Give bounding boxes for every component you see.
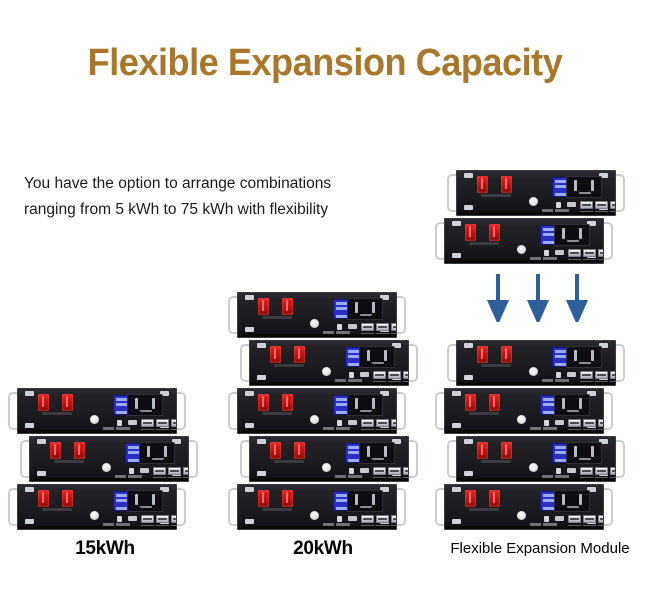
comm-port[interactable] xyxy=(580,201,593,209)
dip-switch[interactable] xyxy=(349,468,354,474)
comm-port[interactable] xyxy=(580,371,593,379)
power-button[interactable] xyxy=(529,197,538,206)
module-chassis xyxy=(444,388,604,434)
port-label xyxy=(580,211,593,213)
power-button[interactable] xyxy=(517,415,526,424)
label-marking xyxy=(555,379,569,382)
mount-ear-top-left xyxy=(464,173,473,178)
communication-port-panel[interactable] xyxy=(347,490,383,512)
comm-port[interactable] xyxy=(153,467,166,475)
power-terminals xyxy=(474,442,520,463)
address-switch[interactable] xyxy=(348,420,357,425)
comm-port[interactable] xyxy=(361,419,374,427)
terminal-cover xyxy=(469,242,499,245)
connector-slot xyxy=(579,398,582,409)
module-chassis xyxy=(17,388,177,434)
terminal-negative[interactable] xyxy=(38,490,49,507)
battery-module[interactable] xyxy=(228,292,406,338)
port-label xyxy=(391,333,397,335)
terminal-negative[interactable] xyxy=(258,394,269,411)
terminal-negative[interactable] xyxy=(477,176,488,193)
comm-port[interactable] xyxy=(595,201,608,209)
comm-port[interactable] xyxy=(361,515,374,523)
battery-module[interactable] xyxy=(447,170,625,216)
module-chassis xyxy=(456,170,616,216)
mount-ear-top-left xyxy=(245,391,254,396)
terminal-cover xyxy=(274,460,304,463)
port-label xyxy=(141,429,154,431)
comm-port[interactable] xyxy=(598,515,604,523)
terminal-cover xyxy=(54,460,84,463)
module-chassis xyxy=(237,388,397,434)
connector-slot xyxy=(574,350,577,361)
address-switch[interactable] xyxy=(567,202,576,207)
communication-port-panel[interactable] xyxy=(139,442,175,464)
terminal-negative[interactable] xyxy=(50,442,61,459)
connector-slot xyxy=(574,180,577,191)
port-label xyxy=(583,429,596,431)
label-marking xyxy=(348,379,362,382)
stack-label-20kwh: 20kWh xyxy=(228,538,418,560)
connector-latch xyxy=(579,362,591,365)
mount-ear-bottom-left xyxy=(464,375,473,380)
label-marking xyxy=(103,427,114,430)
connector-latch xyxy=(152,458,164,461)
terminal-cover xyxy=(469,508,499,511)
mount-ear-bottom-left xyxy=(464,205,473,210)
comm-port[interactable] xyxy=(141,419,154,427)
label-marking xyxy=(335,475,346,478)
comm-port[interactable] xyxy=(610,201,616,209)
port-label xyxy=(361,525,374,527)
connector-slot xyxy=(152,398,155,409)
terminal-negative[interactable] xyxy=(477,442,488,459)
mount-ear-bottom-left xyxy=(25,423,34,428)
comm-port[interactable] xyxy=(168,467,181,475)
comm-port[interactable] xyxy=(171,419,177,427)
communication-port-panel[interactable] xyxy=(127,490,163,512)
comm-port[interactable] xyxy=(598,249,604,257)
comm-port[interactable] xyxy=(156,515,169,523)
power-terminals xyxy=(267,346,313,367)
comm-port[interactable] xyxy=(373,467,386,475)
label-marking xyxy=(555,209,569,212)
stack-label-15kwh: 15kWh xyxy=(10,538,200,560)
mount-ear-bottom-left xyxy=(37,471,46,476)
terminal-positive[interactable] xyxy=(501,442,512,459)
communication-port-panel[interactable] xyxy=(554,224,590,246)
comm-port[interactable] xyxy=(388,371,401,379)
comm-port[interactable] xyxy=(568,419,581,427)
connector-slot xyxy=(135,398,138,409)
address-switch[interactable] xyxy=(128,516,137,521)
terminal-negative[interactable] xyxy=(38,394,49,411)
terminal-positive[interactable] xyxy=(74,442,85,459)
power-terminals xyxy=(255,490,301,511)
port-label xyxy=(610,477,616,479)
address-switch[interactable] xyxy=(360,372,369,377)
connector-latch xyxy=(372,362,384,365)
power-terminals xyxy=(474,346,520,367)
address-switch[interactable] xyxy=(567,468,576,473)
comm-port[interactable] xyxy=(595,371,608,379)
connector-latch xyxy=(372,458,384,461)
terminal-cover xyxy=(262,508,292,511)
module-chassis xyxy=(237,484,397,530)
power-button[interactable] xyxy=(517,511,526,520)
port-label xyxy=(171,429,177,431)
connector-slot xyxy=(591,180,594,191)
connector-slot xyxy=(372,302,375,313)
address-switch[interactable] xyxy=(348,324,357,329)
comm-port[interactable] xyxy=(610,371,616,379)
port-label xyxy=(583,259,596,261)
comm-port[interactable] xyxy=(373,371,386,379)
battery-module[interactable] xyxy=(435,484,613,530)
dip-switch[interactable] xyxy=(129,468,134,474)
label-marking xyxy=(530,523,541,526)
terminal-positive[interactable] xyxy=(489,224,500,241)
terminal-cover xyxy=(481,194,511,197)
module-chassis xyxy=(29,436,189,482)
communication-port-panel[interactable] xyxy=(347,298,383,320)
connector-latch xyxy=(579,458,591,461)
port-label xyxy=(391,429,397,431)
connector-slot xyxy=(384,446,387,457)
battery-module[interactable] xyxy=(8,388,186,434)
terminal-cover xyxy=(42,412,72,415)
mount-ear-top-left xyxy=(464,343,473,348)
mount-ear-bottom-left xyxy=(245,423,254,428)
power-terminals xyxy=(462,394,508,415)
connector-slot xyxy=(372,494,375,505)
connector-slot xyxy=(574,446,577,457)
label-marking xyxy=(336,523,350,526)
battery-module[interactable] xyxy=(228,388,406,434)
connector-slot xyxy=(562,228,565,239)
dip-switch[interactable] xyxy=(337,324,342,330)
port-label xyxy=(373,477,386,479)
terminal-positive[interactable] xyxy=(501,176,512,193)
connector-slot xyxy=(562,494,565,505)
comm-port[interactable] xyxy=(568,249,581,257)
power-button[interactable] xyxy=(322,463,331,472)
mount-ear-top-left xyxy=(37,439,46,444)
connector-slot xyxy=(579,228,582,239)
mount-ear-bottom-left xyxy=(245,519,254,524)
mount-ear-top-left xyxy=(257,343,266,348)
connector-slot xyxy=(367,350,370,361)
connector-slot xyxy=(562,398,565,409)
module-chassis xyxy=(249,436,409,482)
comm-port[interactable] xyxy=(391,323,397,331)
communication-port-panel[interactable] xyxy=(566,442,602,464)
label-marking xyxy=(323,523,334,526)
label-marking xyxy=(543,427,557,430)
comm-port[interactable] xyxy=(583,515,596,523)
mount-ear-bottom-left xyxy=(257,471,266,476)
comm-port[interactable] xyxy=(595,467,608,475)
terminal-cover xyxy=(262,316,292,319)
port-label xyxy=(388,381,401,383)
module-chassis xyxy=(17,484,177,530)
terminal-positive[interactable] xyxy=(489,394,500,411)
battery-module[interactable] xyxy=(435,218,613,264)
port-label xyxy=(156,429,169,431)
terminal-negative[interactable] xyxy=(465,394,476,411)
power-button[interactable] xyxy=(529,463,538,472)
communication-port-panel[interactable] xyxy=(566,176,602,198)
port-label xyxy=(610,211,616,213)
dip-switch[interactable] xyxy=(349,372,354,378)
power-button[interactable] xyxy=(310,415,319,424)
port-label xyxy=(595,211,608,213)
dip-switch[interactable] xyxy=(544,250,549,256)
port-label xyxy=(156,525,169,527)
terminal-positive[interactable] xyxy=(489,490,500,507)
port-label xyxy=(361,429,374,431)
terminal-negative[interactable] xyxy=(258,490,269,507)
connector-latch xyxy=(567,240,579,243)
dip-switch[interactable] xyxy=(544,516,549,522)
communication-port-panel[interactable] xyxy=(127,394,163,416)
port-label xyxy=(583,525,596,527)
label-marking xyxy=(542,475,553,478)
intro-line-1: You have the option to arrange combinati… xyxy=(24,171,404,197)
power-terminals xyxy=(474,176,520,197)
port-label xyxy=(376,333,389,335)
label-marking xyxy=(335,379,346,382)
connector-latch xyxy=(140,506,152,509)
mount-ear-bottom-left xyxy=(452,519,461,524)
mount-ear-top-left xyxy=(25,487,34,492)
terminal-positive[interactable] xyxy=(62,394,73,411)
power-button[interactable] xyxy=(90,415,99,424)
power-button[interactable] xyxy=(310,319,319,328)
terminal-positive[interactable] xyxy=(282,490,293,507)
mount-ear-bottom-left xyxy=(452,423,461,428)
terminal-positive[interactable] xyxy=(282,394,293,411)
communication-port-panel[interactable] xyxy=(566,346,602,368)
comm-port[interactable] xyxy=(361,323,374,331)
terminal-positive[interactable] xyxy=(282,298,293,315)
address-switch[interactable] xyxy=(360,468,369,473)
comm-port[interactable] xyxy=(391,515,397,523)
power-button[interactable] xyxy=(322,367,331,376)
mount-ear-top-left xyxy=(245,295,254,300)
power-terminals xyxy=(267,442,313,463)
mount-ear-bottom-left xyxy=(452,253,461,258)
address-switch[interactable] xyxy=(555,420,564,425)
power-terminals xyxy=(255,394,301,415)
connector-latch xyxy=(567,410,579,413)
mount-ear-top-left xyxy=(464,439,473,444)
dip-switch[interactable] xyxy=(117,516,122,522)
label-marking xyxy=(348,475,362,478)
dip-switch[interactable] xyxy=(337,516,342,522)
port-label xyxy=(171,525,177,527)
port-label xyxy=(598,525,604,527)
label-marking xyxy=(128,475,142,478)
power-terminals xyxy=(462,490,508,511)
arrow-down-icon xyxy=(527,274,549,327)
address-switch[interactable] xyxy=(555,516,564,521)
comm-port[interactable] xyxy=(376,515,389,523)
module-chassis xyxy=(249,340,409,386)
connector-latch xyxy=(579,192,591,195)
terminal-negative[interactable] xyxy=(477,346,488,363)
terminal-negative[interactable] xyxy=(270,346,281,363)
module-chassis xyxy=(237,292,397,338)
dip-switch[interactable] xyxy=(556,202,561,208)
comm-port[interactable] xyxy=(391,419,397,427)
connector-latch xyxy=(360,314,372,317)
mount-ear-top-left xyxy=(245,487,254,492)
label-marking xyxy=(116,523,130,526)
communication-port-panel[interactable] xyxy=(359,442,395,464)
battery-module[interactable] xyxy=(20,436,198,482)
battery-module[interactable] xyxy=(447,340,625,386)
power-button[interactable] xyxy=(90,511,99,520)
terminal-negative[interactable] xyxy=(270,442,281,459)
port-label xyxy=(388,477,401,479)
connector-slot xyxy=(384,350,387,361)
port-label xyxy=(376,525,389,527)
port-label xyxy=(361,333,374,335)
connector-slot xyxy=(355,398,358,409)
terminal-cover xyxy=(481,460,511,463)
comm-port[interactable] xyxy=(156,419,169,427)
battery-module[interactable] xyxy=(240,436,418,482)
address-switch[interactable] xyxy=(348,516,357,521)
terminal-positive[interactable] xyxy=(501,346,512,363)
terminal-positive[interactable] xyxy=(62,490,73,507)
battery-module[interactable] xyxy=(228,484,406,530)
terminal-positive[interactable] xyxy=(294,346,305,363)
port-label xyxy=(610,381,616,383)
label-marking xyxy=(323,331,334,334)
dip-switch[interactable] xyxy=(117,420,122,426)
comm-port[interactable] xyxy=(171,515,177,523)
intro-text-block: You have the option to arrange combinati… xyxy=(24,171,404,223)
port-label xyxy=(595,381,608,383)
terminal-positive[interactable] xyxy=(294,442,305,459)
power-button[interactable] xyxy=(310,511,319,520)
connector-slot xyxy=(152,494,155,505)
terminal-cover xyxy=(274,364,304,367)
battery-module[interactable] xyxy=(240,340,418,386)
comm-port[interactable] xyxy=(376,323,389,331)
port-label xyxy=(403,477,409,479)
battery-module[interactable] xyxy=(447,436,625,482)
label-marking xyxy=(530,427,541,430)
port-label xyxy=(183,477,189,479)
communication-port-panel[interactable] xyxy=(554,490,590,512)
mount-ear-top-left xyxy=(452,487,461,492)
battery-module[interactable] xyxy=(8,484,186,530)
port-label xyxy=(141,525,154,527)
address-switch[interactable] xyxy=(567,372,576,377)
port-label xyxy=(598,259,604,261)
battery-module[interactable] xyxy=(435,388,613,434)
port-label xyxy=(580,381,593,383)
terminal-negative[interactable] xyxy=(258,298,269,315)
port-label xyxy=(153,477,166,479)
connector-latch xyxy=(567,506,579,509)
label-marking xyxy=(543,523,557,526)
communication-port-panel[interactable] xyxy=(359,346,395,368)
address-switch[interactable] xyxy=(128,420,137,425)
power-terminals xyxy=(255,298,301,319)
connector-slot xyxy=(367,446,370,457)
comm-port[interactable] xyxy=(403,371,409,379)
label-marking xyxy=(103,523,114,526)
communication-port-panel[interactable] xyxy=(554,394,590,416)
comm-port[interactable] xyxy=(376,419,389,427)
communication-port-panel[interactable] xyxy=(347,394,383,416)
connector-slot xyxy=(579,494,582,505)
address-switch[interactable] xyxy=(555,250,564,255)
terminal-cover xyxy=(481,364,511,367)
comm-port[interactable] xyxy=(580,467,593,475)
connector-slot xyxy=(355,302,358,313)
address-switch[interactable] xyxy=(140,468,149,473)
intro-line-2: ranging from 5 kWh to 75 kWh with flexib… xyxy=(24,197,404,223)
arrow-down-icon xyxy=(566,274,588,327)
comm-port[interactable] xyxy=(183,467,189,475)
label-marking xyxy=(542,209,553,212)
slide-canvas: Flexible Expansion Capacity You have the… xyxy=(0,0,650,607)
power-button[interactable] xyxy=(517,245,526,254)
label-marking xyxy=(336,427,350,430)
connector-latch xyxy=(360,410,372,413)
connector-slot xyxy=(372,398,375,409)
dip-switch[interactable] xyxy=(544,420,549,426)
port-label xyxy=(595,477,608,479)
terminal-negative[interactable] xyxy=(465,224,476,241)
connector-latch xyxy=(360,506,372,509)
connector-slot xyxy=(135,494,138,505)
label-marking xyxy=(555,475,569,478)
terminal-cover xyxy=(469,412,499,415)
comm-port[interactable] xyxy=(598,419,604,427)
module-chassis xyxy=(456,436,616,482)
comm-port[interactable] xyxy=(568,515,581,523)
terminal-negative[interactable] xyxy=(465,490,476,507)
port-label xyxy=(168,477,181,479)
dip-switch[interactable] xyxy=(337,420,342,426)
comm-port[interactable] xyxy=(388,467,401,475)
port-label xyxy=(403,381,409,383)
comm-port[interactable] xyxy=(583,419,596,427)
dip-switch[interactable] xyxy=(556,468,561,474)
connector-slot xyxy=(355,494,358,505)
label-marking xyxy=(543,257,557,260)
power-button[interactable] xyxy=(529,367,538,376)
module-chassis xyxy=(444,218,604,264)
connector-latch xyxy=(140,410,152,413)
power-button[interactable] xyxy=(102,463,111,472)
comm-port[interactable] xyxy=(403,467,409,475)
comm-port[interactable] xyxy=(141,515,154,523)
port-label xyxy=(580,477,593,479)
mount-ear-bottom-left xyxy=(245,327,254,332)
comm-port[interactable] xyxy=(610,467,616,475)
power-terminals xyxy=(35,394,81,415)
label-marking xyxy=(530,257,541,260)
comm-port[interactable] xyxy=(583,249,596,257)
dip-switch[interactable] xyxy=(556,372,561,378)
